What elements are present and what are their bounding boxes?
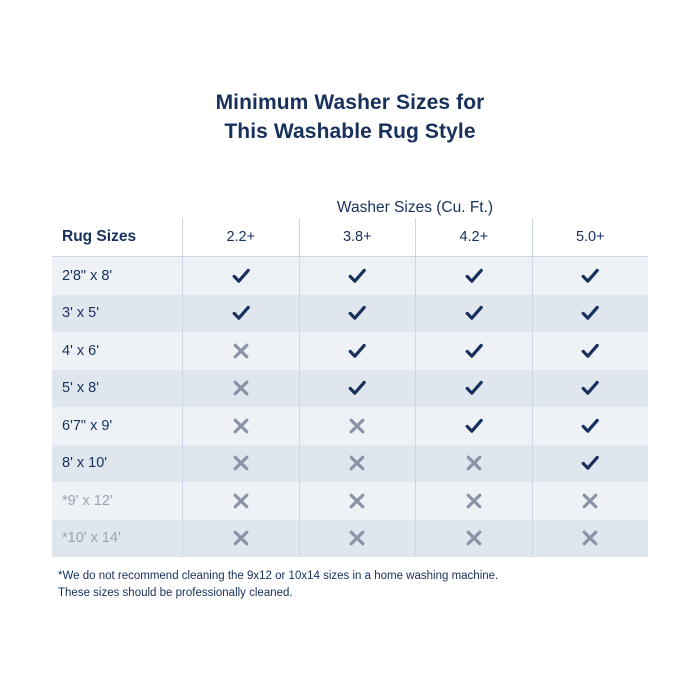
table-row: 3' x 5'	[52, 295, 648, 333]
compatibility-cell-r0-c1	[299, 257, 416, 295]
compatibility-cell-r4-c3	[532, 407, 649, 445]
compatibility-cell-r5-c0	[182, 445, 299, 483]
page-title: Minimum Washer Sizes for This Washable R…	[0, 88, 700, 146]
rug-size-label: 6'7" x 9'	[52, 407, 182, 445]
table-body: 2'8" x 8'3' x 5'4' x 6'5' x 8'6'7" x 9'8…	[52, 256, 648, 557]
cross-icon	[231, 416, 251, 436]
compatibility-cell-r3-c0	[182, 370, 299, 408]
compatibility-cell-r4-c0	[182, 407, 299, 445]
rug-size-label: 3' x 5'	[52, 295, 182, 333]
check-icon	[463, 377, 485, 399]
washer-sizes-group-label: Washer Sizes (Cu. Ft.)	[182, 198, 648, 218]
compatibility-table: Washer Sizes (Cu. Ft.) Rug Sizes 2.2+ 3.…	[52, 186, 648, 557]
rug-size-label: *9' x 12'	[52, 482, 182, 520]
cross-icon	[231, 341, 251, 361]
rug-size-label: 8' x 10'	[52, 445, 182, 483]
compatibility-cell-r2-c2	[415, 332, 532, 370]
compatibility-cell-r5-c3	[532, 445, 649, 483]
cross-icon	[347, 528, 367, 548]
table-row: *10' x 14'	[52, 520, 648, 558]
compatibility-cell-r7-c3	[532, 520, 649, 558]
compatibility-cell-r0-c3	[532, 257, 649, 295]
compatibility-cell-r6-c0	[182, 482, 299, 520]
check-icon	[346, 377, 368, 399]
check-icon	[230, 265, 252, 287]
check-icon	[463, 265, 485, 287]
check-icon	[579, 340, 601, 362]
compatibility-cell-r7-c1	[299, 520, 416, 558]
table-row: 5' x 8'	[52, 370, 648, 408]
footnote-line-1: *We do not recommend cleaning the 9x12 o…	[58, 568, 658, 585]
cross-icon	[231, 378, 251, 398]
rug-size-label: 4' x 6'	[52, 332, 182, 370]
column-header-washer-2: 4.2+	[415, 218, 532, 256]
check-icon	[230, 302, 252, 324]
compatibility-cell-r7-c0	[182, 520, 299, 558]
column-header-washer-3: 5.0+	[532, 218, 649, 256]
compatibility-cell-r3-c3	[532, 370, 649, 408]
compatibility-cell-r2-c3	[532, 332, 649, 370]
compatibility-cell-r0-c0	[182, 257, 299, 295]
footnote: *We do not recommend cleaning the 9x12 o…	[58, 568, 658, 602]
check-icon	[463, 415, 485, 437]
compatibility-cell-r7-c2	[415, 520, 532, 558]
compatibility-cell-r6-c1	[299, 482, 416, 520]
cross-icon	[464, 453, 484, 473]
washer-size-compatibility-chart: Minimum Washer Sizes for This Washable R…	[0, 0, 700, 700]
column-header-washer-1: 3.8+	[299, 218, 416, 256]
cross-icon	[464, 528, 484, 548]
compatibility-cell-r1-c1	[299, 295, 416, 333]
compatibility-cell-r1-c3	[532, 295, 649, 333]
compatibility-cell-r1-c2	[415, 295, 532, 333]
compatibility-cell-r4-c2	[415, 407, 532, 445]
check-icon	[579, 452, 601, 474]
table-group-header-row: Washer Sizes (Cu. Ft.)	[52, 186, 648, 218]
compatibility-cell-r3-c2	[415, 370, 532, 408]
cross-icon	[231, 491, 251, 511]
check-icon	[346, 302, 368, 324]
page-title-line-1: Minimum Washer Sizes for	[0, 88, 700, 117]
cross-icon	[231, 528, 251, 548]
compatibility-cell-r1-c0	[182, 295, 299, 333]
column-header-washer-0: 2.2+	[182, 218, 299, 256]
table-row: 2'8" x 8'	[52, 257, 648, 295]
cross-icon	[464, 491, 484, 511]
check-icon	[579, 415, 601, 437]
compatibility-cell-r0-c2	[415, 257, 532, 295]
compatibility-cell-r6-c2	[415, 482, 532, 520]
table-row: 6'7" x 9'	[52, 407, 648, 445]
cross-icon	[231, 453, 251, 473]
compatibility-cell-r6-c3	[532, 482, 649, 520]
check-icon	[463, 302, 485, 324]
check-icon	[579, 265, 601, 287]
compatibility-cell-r4-c1	[299, 407, 416, 445]
footnote-line-2: These sizes should be professionally cle…	[58, 585, 658, 602]
compatibility-cell-r2-c0	[182, 332, 299, 370]
cross-icon	[347, 453, 367, 473]
check-icon	[346, 340, 368, 362]
table-row: 8' x 10'	[52, 445, 648, 483]
column-header-rug-sizes: Rug Sizes	[52, 218, 182, 256]
compatibility-cell-r5-c1	[299, 445, 416, 483]
check-icon	[463, 340, 485, 362]
cross-icon	[347, 491, 367, 511]
rug-size-label: *10' x 14'	[52, 520, 182, 558]
cross-icon	[580, 528, 600, 548]
table-row: 4' x 6'	[52, 332, 648, 370]
rug-size-label: 2'8" x 8'	[52, 257, 182, 295]
check-icon	[579, 302, 601, 324]
compatibility-cell-r3-c1	[299, 370, 416, 408]
cross-icon	[580, 491, 600, 511]
compatibility-cell-r2-c1	[299, 332, 416, 370]
compatibility-cell-r5-c2	[415, 445, 532, 483]
rug-size-label: 5' x 8'	[52, 370, 182, 408]
check-icon	[579, 377, 601, 399]
cross-icon	[347, 416, 367, 436]
table-row: *9' x 12'	[52, 482, 648, 520]
check-icon	[346, 265, 368, 287]
page-title-line-2: This Washable Rug Style	[0, 117, 700, 146]
table-column-header-row: Rug Sizes 2.2+ 3.8+ 4.2+ 5.0+	[52, 218, 648, 256]
